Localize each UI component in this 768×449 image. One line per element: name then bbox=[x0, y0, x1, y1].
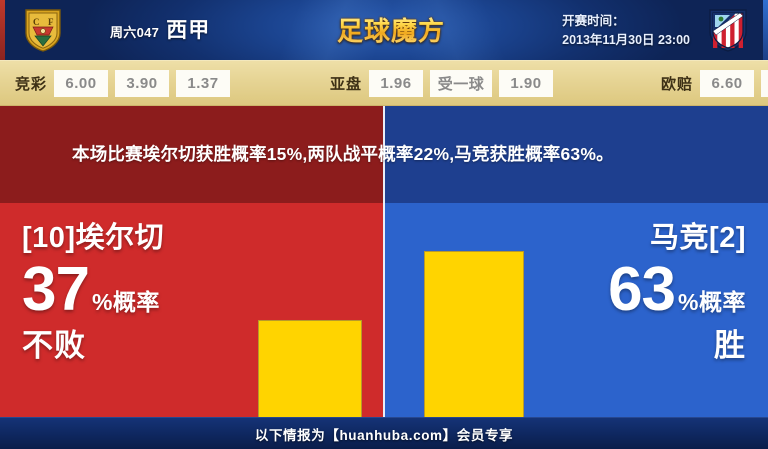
odds-group-jingcai: 竞彩 6.00 3.90 1.37 bbox=[15, 70, 230, 97]
odds-group-yapan: 亚盘 1.96 受一球 1.90 bbox=[330, 70, 553, 97]
odds-cell-home[interactable]: 6.60 bbox=[700, 70, 754, 97]
odds-cell-away[interactable]: 1.90 bbox=[499, 70, 553, 97]
site-logo[interactable]: 足球魔方 bbox=[330, 10, 452, 48]
away-percent-row: 63 %概率 bbox=[608, 259, 746, 321]
header-left-accent bbox=[0, 0, 5, 60]
header-bar: C F 周六047 西甲 足球魔方 开赛时间： 2013年11月30日 23:0… bbox=[0, 0, 768, 60]
away-percent-label: %概率 bbox=[678, 291, 746, 314]
home-result-label: 不败 bbox=[22, 330, 164, 361]
site-logo-text: 足球魔方 bbox=[337, 11, 445, 48]
kickoff-value: 2013年11月30日 23:00 bbox=[562, 31, 690, 50]
footer-text: 以下情报为【huanhuba.com】会员专享 bbox=[255, 424, 513, 444]
footer-bar: 以下情报为【huanhuba.com】会员专享 bbox=[0, 417, 768, 449]
odds-group-title: 亚盘 bbox=[330, 73, 362, 94]
odds-bar: 竞彩 6.00 3.90 1.37 亚盘 1.96 受一球 1.90 欧赔 6.… bbox=[0, 60, 768, 106]
away-team-block: 马竞[2] 63 %概率 胜 bbox=[608, 224, 746, 361]
odds-cell-draw[interactable]: 3.90 bbox=[115, 70, 169, 97]
home-team-crest-icon: C F bbox=[20, 7, 66, 53]
match-label: 周六047 西甲 bbox=[110, 14, 210, 44]
summary-banner-text: 本场比赛埃尔切获胜概率15%,两队战平概率22%,马竞获胜概率63%。 bbox=[0, 106, 768, 203]
header-right-accent bbox=[763, 0, 768, 60]
away-team-crest-icon bbox=[706, 7, 750, 53]
match-probability-graphic: C F 周六047 西甲 足球魔方 开赛时间： 2013年11月30日 23:0… bbox=[0, 0, 768, 449]
away-probability-bar bbox=[424, 251, 524, 417]
odds-cell-home[interactable]: 1.96 bbox=[369, 70, 423, 97]
home-percent-label: %概率 bbox=[92, 291, 160, 314]
home-percent-value: 37 bbox=[22, 259, 89, 321]
odds-group-title: 欧赔 bbox=[661, 73, 693, 94]
odds-cell-handicap[interactable]: 受一球 bbox=[430, 70, 492, 97]
home-team-block: [10]埃尔切 37 %概率 不败 bbox=[22, 224, 164, 361]
home-percent-row: 37 %概率 bbox=[22, 259, 164, 321]
home-team-name: [10]埃尔切 bbox=[22, 224, 164, 253]
away-result-label: 胜 bbox=[608, 330, 746, 361]
home-probability-bar bbox=[258, 320, 362, 417]
kickoff-label: 开赛时间： bbox=[562, 12, 690, 31]
odds-cell-home[interactable]: 6.00 bbox=[54, 70, 108, 97]
odds-group-title: 竞彩 bbox=[15, 73, 47, 94]
svg-text:F: F bbox=[48, 17, 54, 27]
match-round: 周六047 bbox=[110, 22, 159, 41]
odds-cell-draw[interactable]: 3.90 bbox=[761, 70, 768, 97]
odds-group-oupei: 欧赔 6.60 3.90 1.51 bbox=[661, 70, 768, 97]
away-team-name: 马竞[2] bbox=[608, 224, 746, 253]
away-percent-value: 63 bbox=[608, 259, 675, 321]
probability-panel: 本场比赛埃尔切获胜概率15%,两队战平概率22%,马竞获胜概率63%。 [10]… bbox=[0, 106, 768, 417]
svg-text:C: C bbox=[33, 17, 40, 27]
match-league: 西甲 bbox=[166, 14, 210, 44]
kickoff-info: 开赛时间： 2013年11月30日 23:00 bbox=[562, 12, 690, 50]
odds-cell-away[interactable]: 1.37 bbox=[176, 70, 230, 97]
